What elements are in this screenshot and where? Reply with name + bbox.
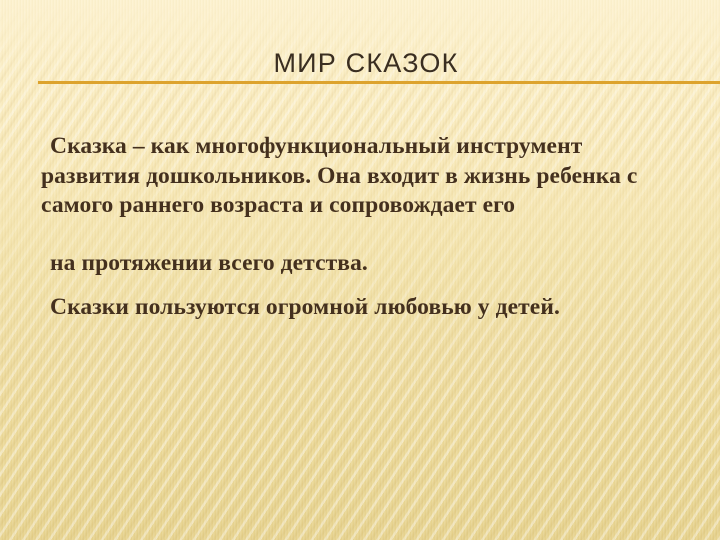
slide-title-block: МИР СКАЗОК — [0, 46, 720, 86]
title-underline-rule — [38, 81, 720, 84]
body-paragraph-3: Сказки пользуются огромной любовью у дет… — [41, 293, 673, 323]
presentation-slide: МИР СКАЗОК Сказка – как многофункциональ… — [0, 0, 720, 540]
slide-body-block: Сказка – как многофункциональный инструм… — [41, 132, 673, 323]
body-paragraph-1: Сказка – как многофункциональный инструм… — [41, 132, 673, 221]
body-paragraph-2: на протяжении всего детства. — [41, 249, 673, 279]
slide-title: МИР СКАЗОК — [0, 46, 720, 80]
